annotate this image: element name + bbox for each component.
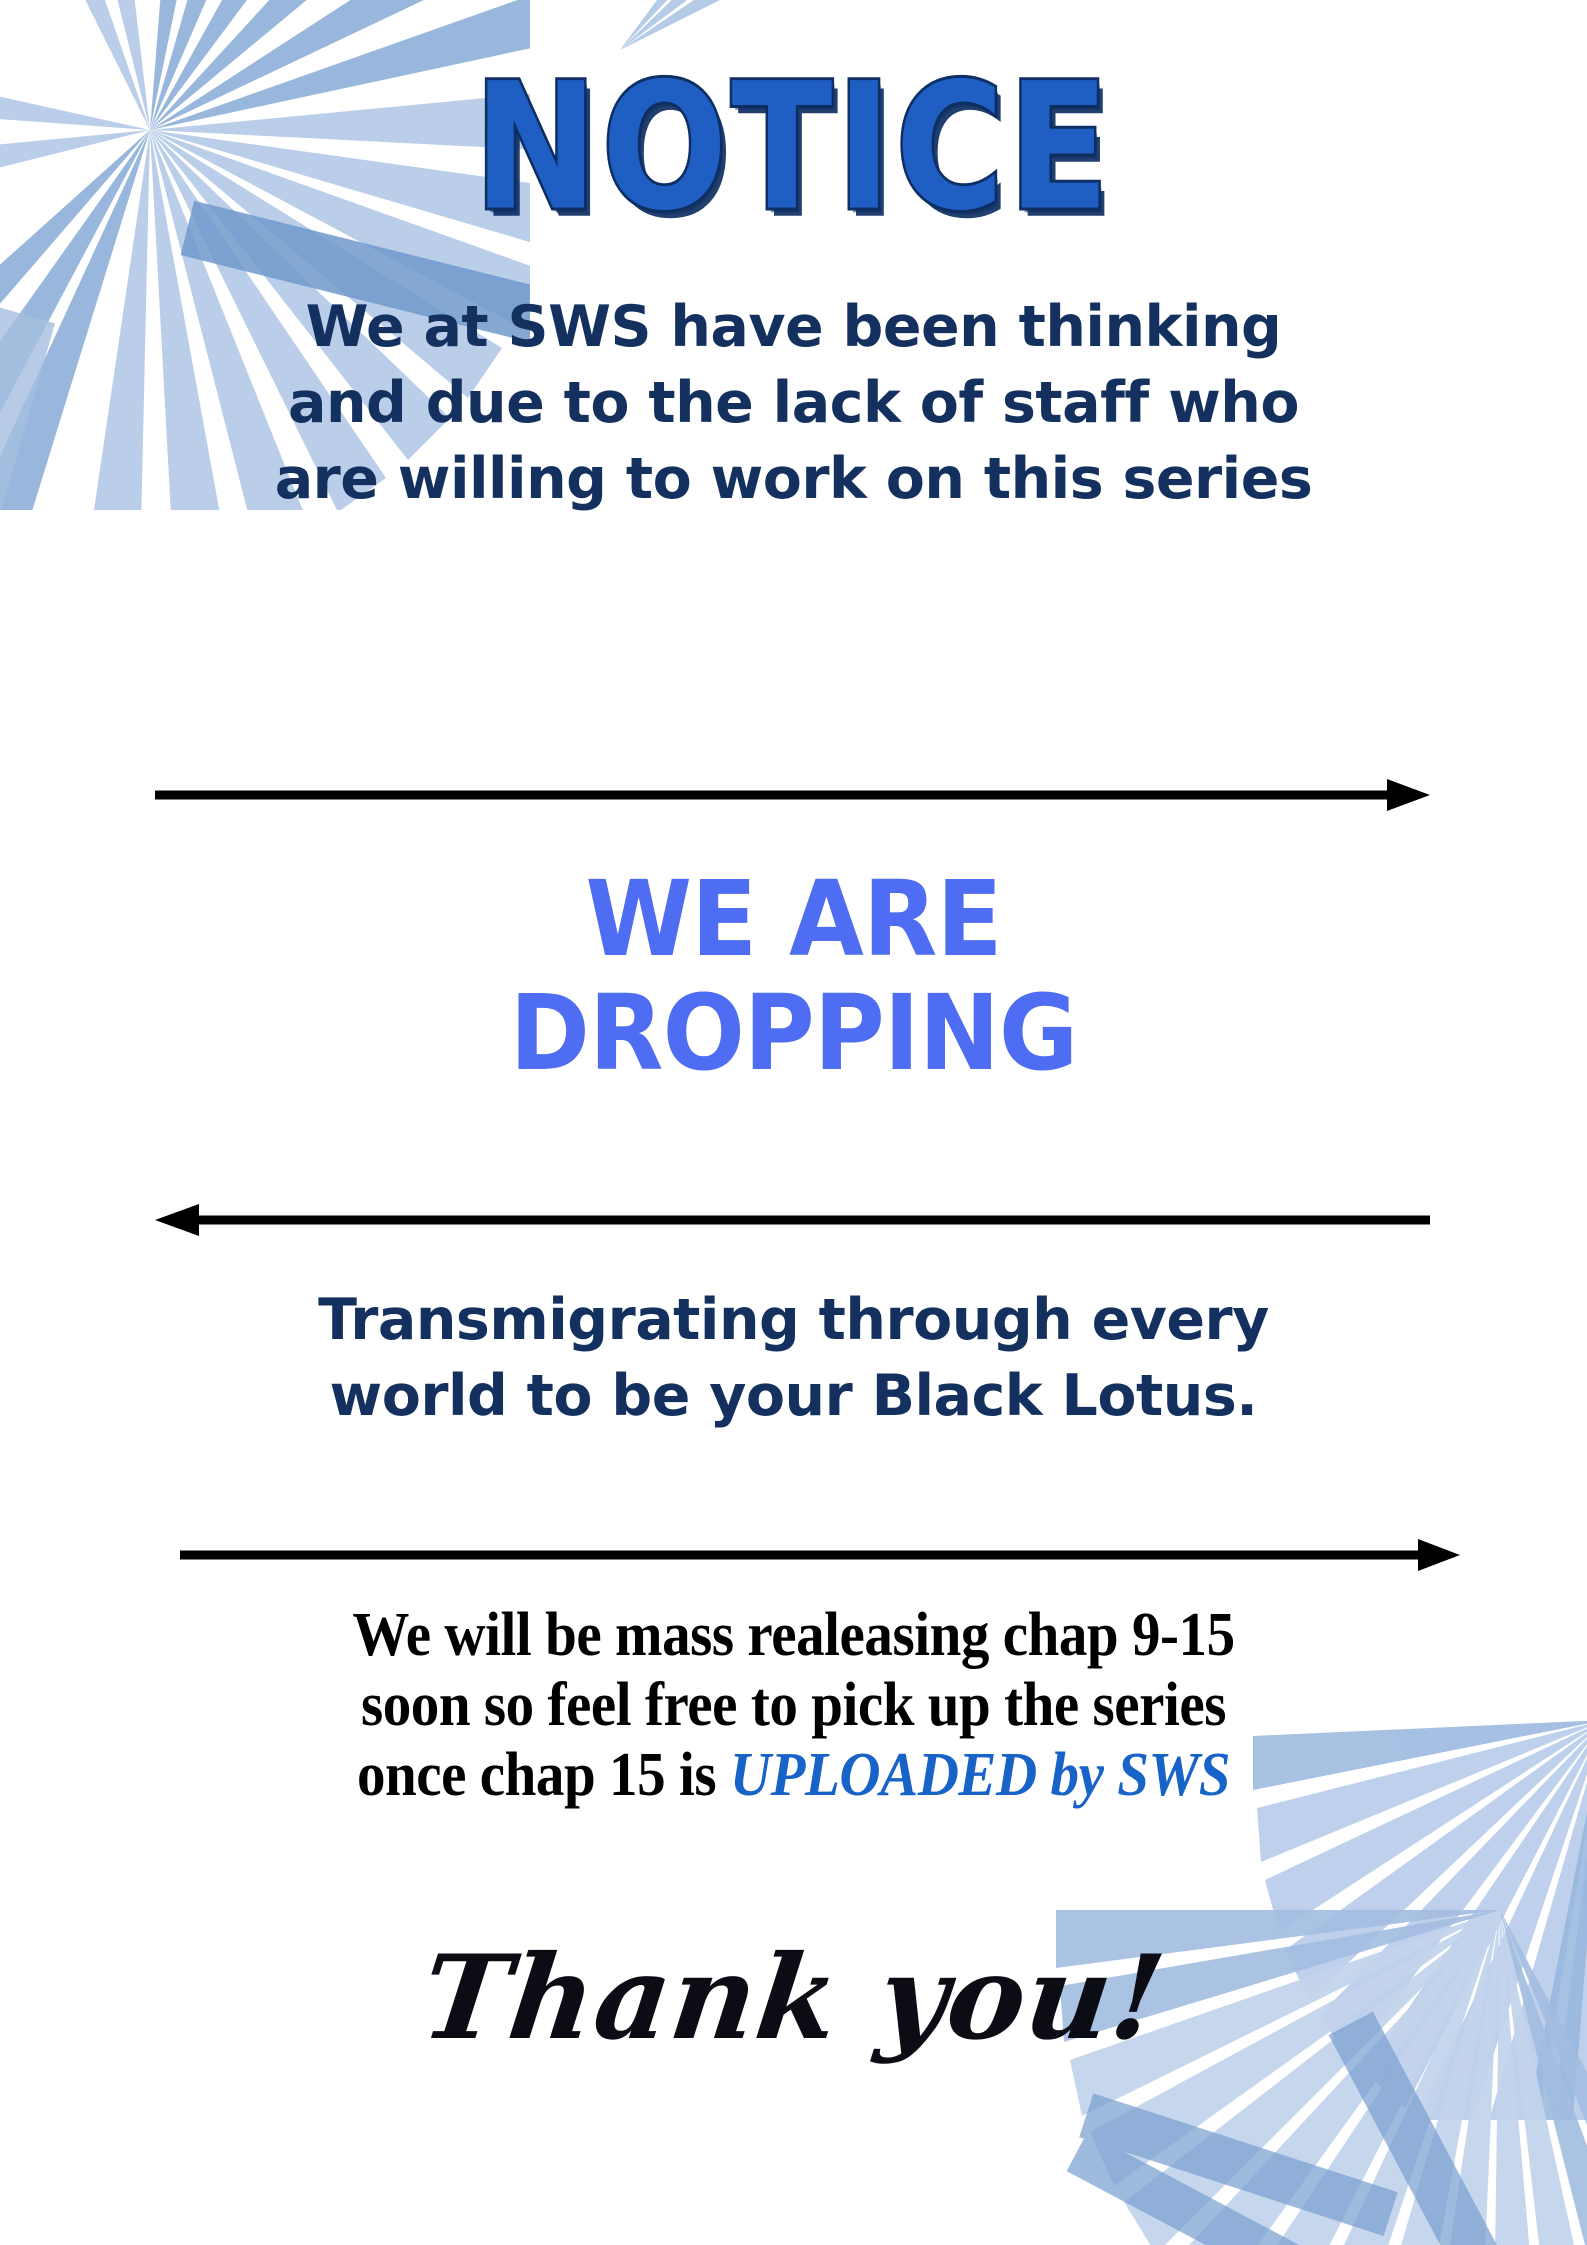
intro-line-1: We at SWS have been thinking <box>0 290 1587 366</box>
announcement-line-1: We will be mass realeasing chap 9-15 <box>63 1600 1523 1670</box>
divider-middle <box>155 1200 1430 1240</box>
announcement-line-3-prefix: once chap 15 is <box>357 1741 730 1809</box>
thank-you-signoff: Thank you! <box>0 1940 1587 2056</box>
dropping-statement: WE ARE DROPPING <box>56 862 1532 1091</box>
description-line-2: world to be your Black Lotus. <box>0 1359 1587 1435</box>
poster-content: NOTICE We at SWS have been thinking and … <box>0 0 1587 2245</box>
notice-title-wrapper: NOTICE <box>0 60 1587 208</box>
series-description-paragraph: Transmigrating through every world to be… <box>0 1283 1587 1435</box>
page-title: NOTICE <box>474 60 1113 235</box>
statement-line-1: WE ARE <box>56 862 1532 976</box>
announcement-uploader-highlight: UPLOADED by SWS <box>730 1741 1230 1809</box>
statement-line-2: DROPPING <box>56 976 1532 1090</box>
announcement-line-3: once chap 15 is UPLOADED by SWS <box>63 1740 1523 1810</box>
divider-bottom <box>180 1535 1460 1575</box>
release-announcement: We will be mass realeasing chap 9-15 soo… <box>0 1600 1587 1810</box>
intro-line-3: are willing to work on this series <box>0 442 1587 518</box>
notice-poster: NOTICE We at SWS have been thinking and … <box>0 0 1587 2245</box>
intro-line-2: and due to the lack of staff who <box>0 366 1587 442</box>
description-line-1: Transmigrating through every <box>0 1283 1587 1359</box>
divider-top <box>155 775 1430 815</box>
intro-paragraph: We at SWS have been thinking and due to … <box>0 290 1587 517</box>
announcement-line-2: soon so feel free to pick up the series <box>63 1670 1523 1740</box>
